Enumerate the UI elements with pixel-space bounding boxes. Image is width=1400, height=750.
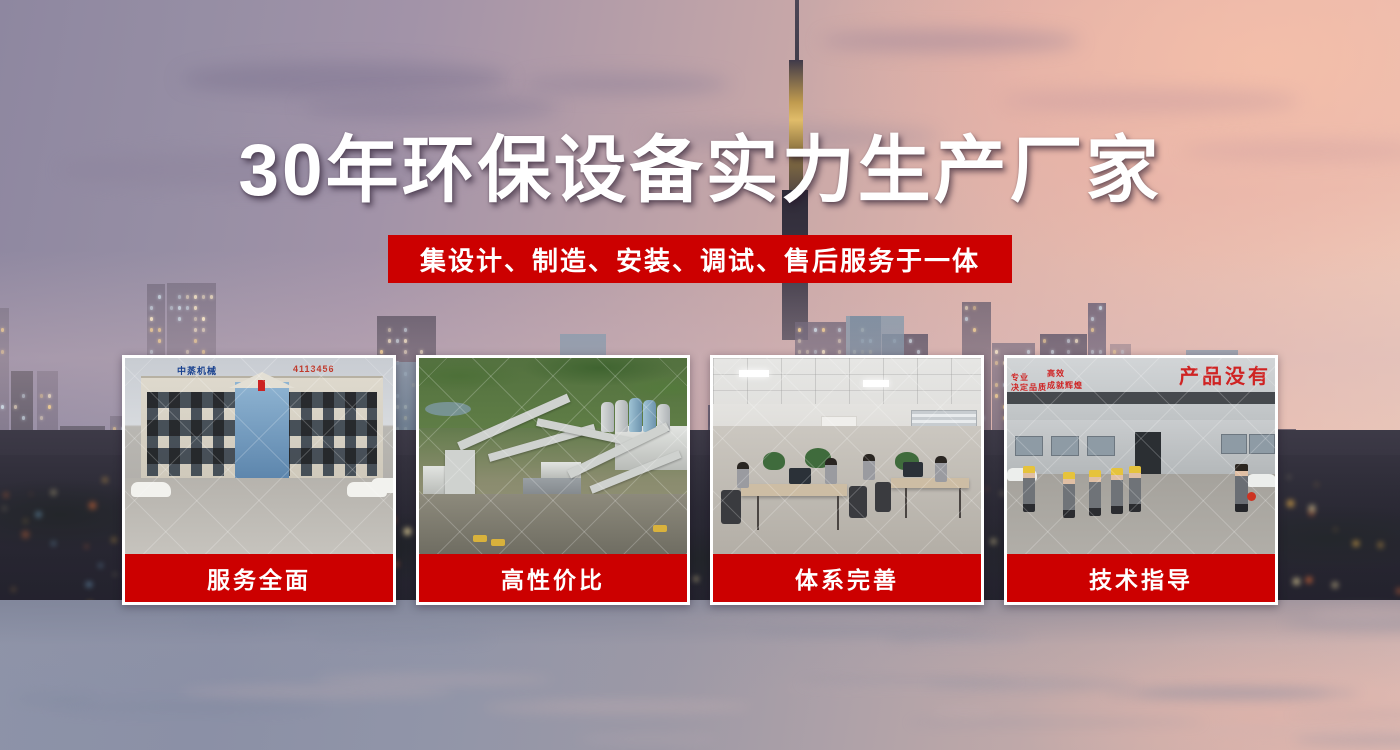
feature-card-service[interactable]: 中蒸机械 4113456 服务全面 xyxy=(122,355,396,605)
cloud xyxy=(300,96,560,120)
factory-sign-small: 成就辉煌 xyxy=(1047,380,1083,391)
card-photo-office xyxy=(713,358,981,554)
card-photo-building: 中蒸机械 4113456 xyxy=(125,358,393,554)
card-caption: 服务全面 xyxy=(125,554,393,602)
factory-sign-text: 产品没有 xyxy=(1179,360,1271,389)
building-phone: 4113456 xyxy=(293,364,335,374)
feature-card-list: 中蒸机械 4113456 服务全面 xyxy=(122,355,1278,605)
card-photo-workers: 产品没有 专业 高效 决定品质 成就辉煌 xyxy=(1007,358,1275,554)
card-caption: 高性价比 xyxy=(419,554,687,602)
subtitle-text: 集设计、制造、安装、调试、售后服务于一体 xyxy=(420,241,980,278)
feature-card-guidance[interactable]: 产品没有 专业 高效 决定品质 成就辉煌 xyxy=(1004,355,1278,605)
building-signage: 中蒸机械 xyxy=(177,364,217,377)
subtitle-banner: 集设计、制造、安装、调试、售后服务于一体 xyxy=(388,235,1012,283)
hero-banner: 30年环保设备实力生产厂家 集设计、制造、安装、调试、售后服务于一体 中蒸机械 … xyxy=(0,0,1400,750)
feature-card-system[interactable]: 体系完善 xyxy=(710,355,984,605)
card-photo-plant xyxy=(419,358,687,554)
cloud xyxy=(180,62,510,96)
card-caption-text: 体系完善 xyxy=(795,561,899,595)
card-caption: 体系完善 xyxy=(713,554,981,602)
card-caption-text: 技术指导 xyxy=(1089,561,1193,595)
page-title: 30年环保设备实力生产厂家 xyxy=(0,133,1400,209)
cloud xyxy=(520,74,730,94)
feature-card-value[interactable]: 高性价比 xyxy=(416,355,690,605)
cloud xyxy=(1000,88,1300,114)
cloud xyxy=(820,30,1080,52)
card-caption-text: 高性价比 xyxy=(501,561,605,595)
factory-sign-small: 高效 xyxy=(1047,368,1065,379)
card-caption: 技术指导 xyxy=(1007,554,1275,602)
card-caption-text: 服务全面 xyxy=(207,561,311,595)
